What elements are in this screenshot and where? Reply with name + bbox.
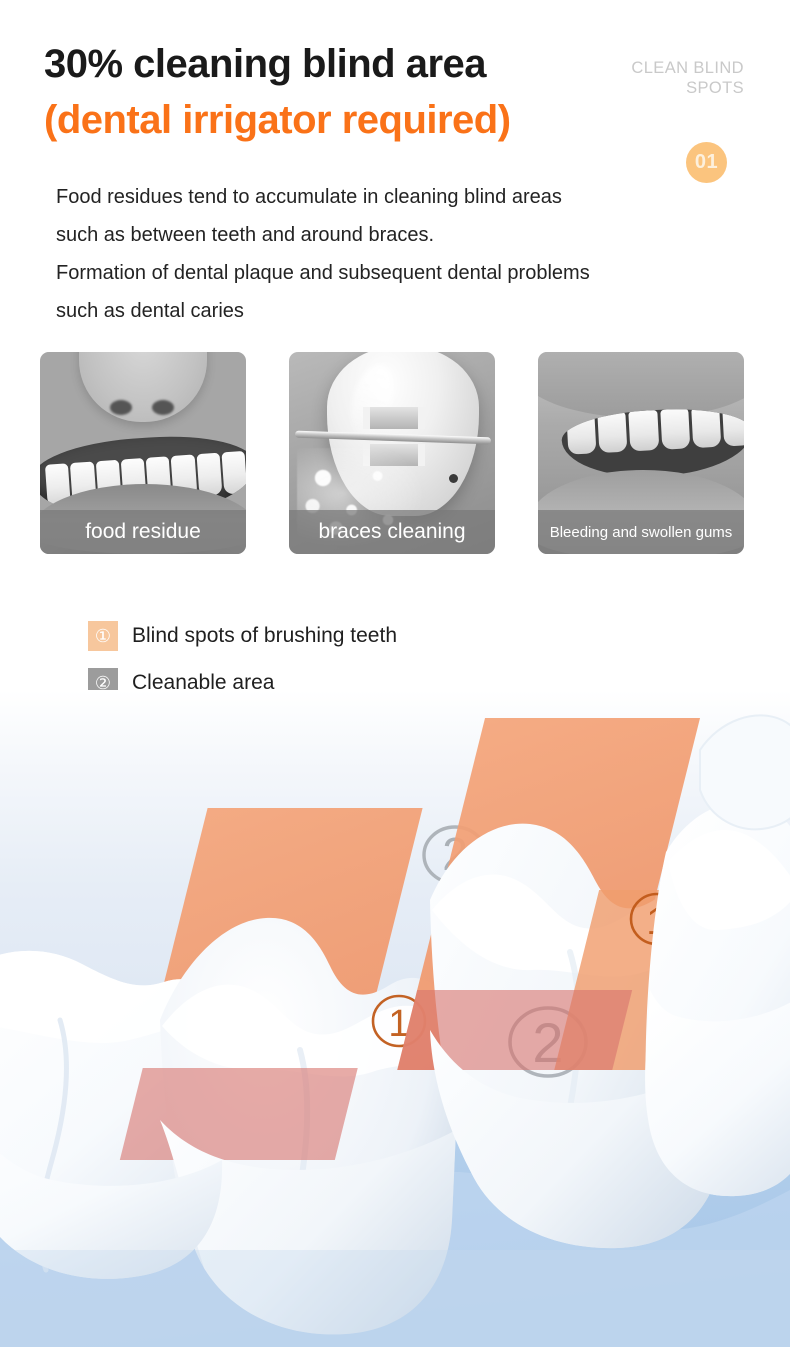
intro-line-4: such as dental caries xyxy=(56,292,756,330)
photo-card-bleeding-gums: Bleeding and swollen gums xyxy=(538,352,744,554)
plane-over-gum-right xyxy=(397,990,632,1070)
intro-line-3: Formation of dental plaque and subsequen… xyxy=(56,254,756,292)
page-title-line1: 30% cleaning blind area xyxy=(44,42,486,87)
infographic-page: 30% cleaning blind area (dental irrigato… xyxy=(0,0,790,1347)
teeth-illustration: 2 1 2 xyxy=(0,690,790,1347)
section-kicker: CLEAN BLIND SPOTS xyxy=(594,58,744,98)
photo-card-caption: braces cleaning xyxy=(289,510,495,554)
speck-shape xyxy=(449,474,458,483)
teeth-row-shape xyxy=(566,405,744,455)
page-title-line2: (dental irrigator required) xyxy=(44,98,511,143)
nostril-left-shape xyxy=(110,400,132,415)
photo-card-caption: Bleeding and swollen gums xyxy=(538,510,744,554)
intro-line-1: Food residues tend to accumulate in clea… xyxy=(56,178,756,216)
plane-over-gum-left xyxy=(120,1068,358,1160)
header: 30% cleaning blind area (dental irrigato… xyxy=(0,0,790,180)
photo-card-caption: food residue xyxy=(40,510,246,554)
legend-item-blind-spots: ① Blind spots of brushing teeth xyxy=(88,612,568,659)
legend-label: Blind spots of brushing teeth xyxy=(132,624,397,648)
photo-card-row: food residue braces cleaning xyxy=(40,352,750,554)
step-number-badge: 01 xyxy=(686,142,727,183)
intro-line-2: such as between teeth and around braces. xyxy=(56,216,756,254)
intro-paragraph: Food residues tend to accumulate in clea… xyxy=(56,178,756,330)
nose-shape xyxy=(79,352,207,422)
nostril-right-shape xyxy=(152,400,174,415)
photo-card-food-residue: food residue xyxy=(40,352,246,554)
photo-card-braces-cleaning: braces cleaning xyxy=(289,352,495,554)
legend-marker-one-icon: ① xyxy=(88,621,118,651)
bracket-upper-shape xyxy=(363,407,425,429)
molar-tooth-5 xyxy=(700,715,790,829)
